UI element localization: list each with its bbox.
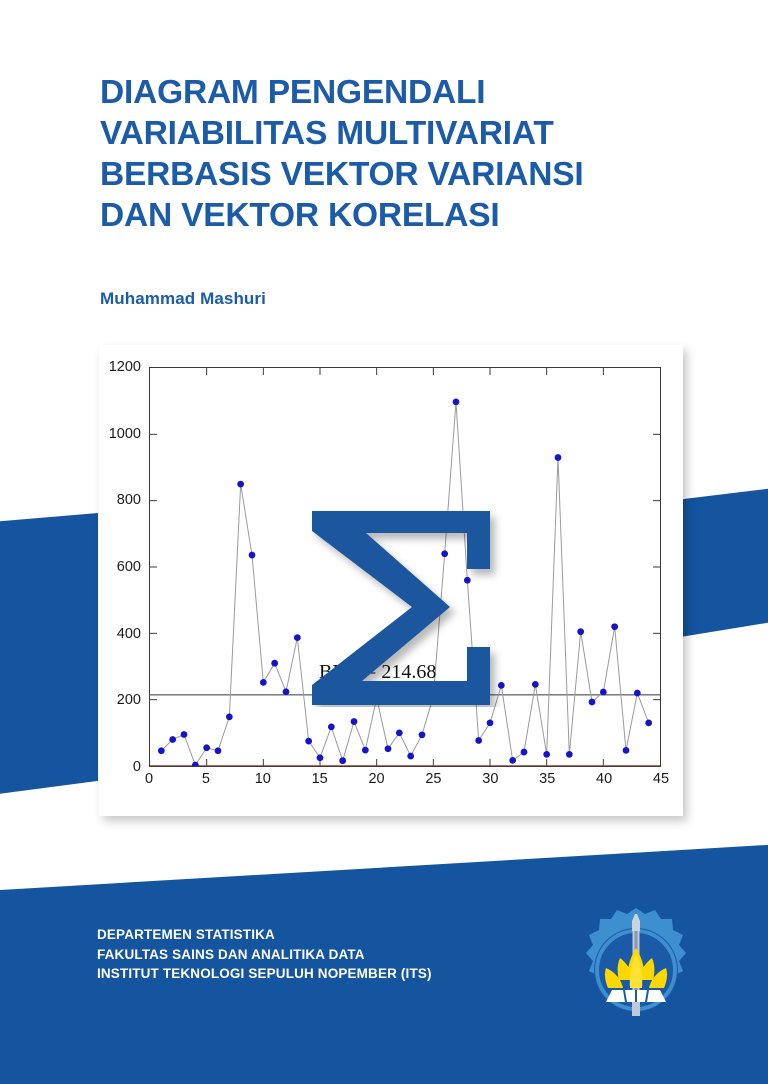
- data-point: [577, 628, 584, 635]
- data-point: [589, 699, 596, 706]
- data-point: [407, 753, 414, 760]
- data-point: [237, 481, 244, 488]
- data-point: [373, 695, 380, 702]
- data-point: [305, 738, 312, 745]
- data-point: [543, 751, 550, 758]
- title-line-1: DIAGRAM PENGENDALI: [100, 72, 700, 113]
- chart-card: 020040060080010001200 051015202530354045…: [99, 345, 683, 816]
- data-point: [249, 552, 256, 559]
- data-point: [532, 681, 539, 688]
- title-line-4: DAN VEKTOR KORELASI: [100, 195, 700, 236]
- data-point: [645, 720, 652, 727]
- x-tick-label: 45: [653, 771, 669, 787]
- data-point: [351, 718, 358, 725]
- y-tick-label: 400: [117, 626, 141, 642]
- footer-line-2: FAKULTAS SAINS DAN ANALITIKA DATA: [97, 945, 432, 965]
- footer-line-1: DEPARTEMEN STATISTIKA: [97, 925, 432, 945]
- data-point: [419, 731, 426, 738]
- data-point: [441, 550, 448, 557]
- decorative-band-left: [0, 513, 98, 795]
- data-point: [475, 737, 482, 744]
- data-point: [283, 688, 290, 695]
- data-point: [215, 747, 222, 754]
- data-point: [226, 714, 233, 721]
- data-point: [487, 720, 494, 727]
- data-point: [396, 729, 403, 736]
- y-tick-label: 0: [133, 759, 141, 775]
- x-tick-label: 40: [596, 771, 612, 787]
- data-point: [623, 747, 630, 754]
- series-line: [161, 402, 648, 765]
- footer-line-3: INSTITUT TEKNOLOGI SEPULUH NOPEMBER (ITS…: [97, 964, 432, 984]
- data-point: [317, 754, 324, 761]
- data-point: [385, 745, 392, 752]
- data-point: [271, 660, 278, 667]
- y-tick-label: 200: [117, 692, 141, 708]
- data-point: [509, 757, 516, 764]
- title-line-3: BERBASIS VEKTOR VARIANSI: [100, 154, 700, 195]
- author-name: Muhammad Mashuri: [100, 289, 266, 309]
- y-tick-label: 1000: [109, 426, 141, 442]
- book-title: DIAGRAM PENGENDALI VARIABILITAS MULTIVAR…: [100, 72, 700, 236]
- data-point: [169, 736, 176, 743]
- y-tick-label: 1200: [109, 359, 141, 375]
- plot-area: [149, 367, 661, 767]
- ucl-annotation: BKA = 214.68: [319, 661, 436, 684]
- x-tick-label: 0: [145, 771, 153, 787]
- data-point: [600, 689, 607, 696]
- x-tick-label: 5: [202, 771, 210, 787]
- x-tick-label: 25: [425, 771, 441, 787]
- data-point: [555, 454, 562, 461]
- data-point: [430, 693, 437, 700]
- x-tick-label: 10: [255, 771, 271, 787]
- data-point: [294, 634, 301, 641]
- data-point: [158, 747, 165, 754]
- y-tick-label: 600: [117, 559, 141, 575]
- publisher-info: DEPARTEMEN STATISTIKA FAKULTAS SAINS DAN…: [97, 925, 432, 984]
- x-tick-label: 35: [539, 771, 555, 787]
- book-cover: DIAGRAM PENGENDALI VARIABILITAS MULTIVAR…: [0, 0, 768, 1084]
- data-point: [203, 744, 210, 751]
- data-point: [498, 682, 505, 689]
- data-point: [260, 679, 267, 686]
- data-point: [181, 731, 188, 738]
- y-axis-tick-labels: 020040060080010001200: [99, 367, 145, 767]
- data-point: [339, 757, 346, 764]
- data-point: [464, 577, 471, 584]
- chart-plot-svg: [150, 368, 660, 766]
- data-point: [634, 690, 641, 697]
- x-tick-label: 15: [312, 771, 328, 787]
- data-point: [362, 747, 369, 754]
- its-logo: [572, 906, 700, 1034]
- data-point: [566, 751, 573, 758]
- x-axis-tick-labels: 051015202530354045: [149, 771, 661, 797]
- data-point: [328, 723, 335, 730]
- title-line-2: VARIABILITAS MULTIVARIAT: [100, 113, 700, 154]
- y-tick-label: 800: [117, 492, 141, 508]
- x-tick-label: 30: [482, 771, 498, 787]
- data-point: [611, 623, 618, 630]
- x-tick-label: 20: [368, 771, 384, 787]
- control-chart: 020040060080010001200 051015202530354045…: [99, 345, 683, 816]
- data-point: [521, 749, 528, 756]
- data-point: [453, 398, 460, 405]
